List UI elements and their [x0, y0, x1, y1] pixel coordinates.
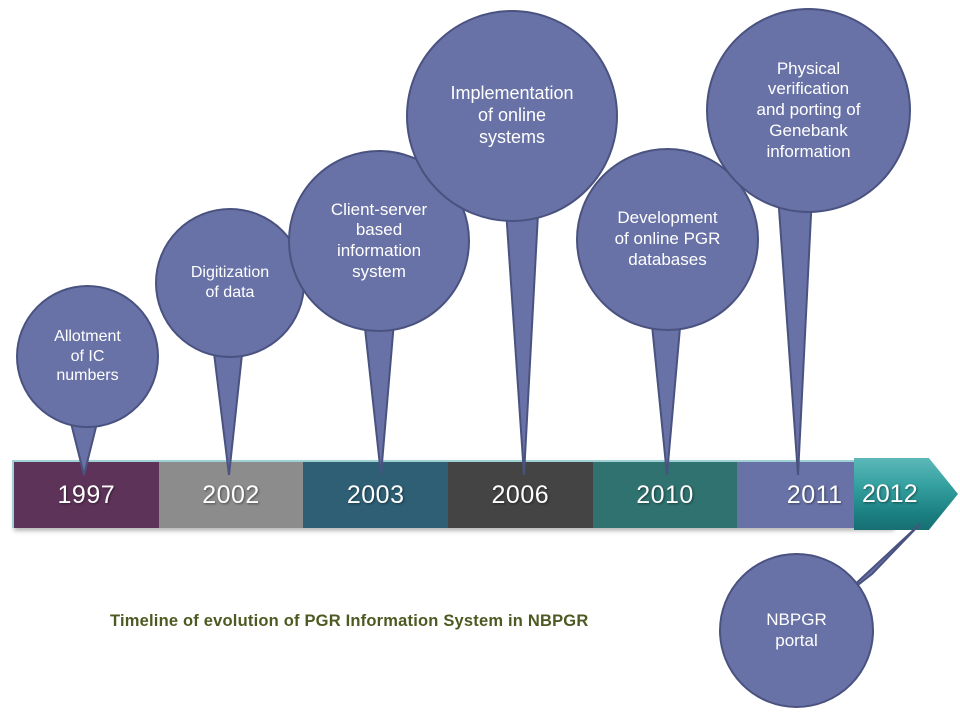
callout-allotment-of-ic-numbers[interactable]: Allotment of IC numbers	[16, 285, 159, 428]
callout-physical-verification-genebank-information-label: Physical verification and porting of Gen…	[747, 59, 871, 163]
callout-implementation-of-online-systems-label: Implementation of online systems	[440, 83, 583, 149]
callout-allotment-of-ic-numbers-label: Allotment of IC numbers	[44, 327, 131, 386]
callout-client-server-based-information-system-label: Client-server based information system	[321, 200, 437, 283]
callout-development-of-online-pgr-databases-label: Development of online PGR databases	[605, 208, 731, 270]
callout-digitization-of-data[interactable]: Digitization of data	[155, 208, 305, 358]
callout-implementation-of-online-systems[interactable]: Implementation of online systems	[406, 10, 618, 222]
timeline-diagram: Allotment of IC numbersDigitization of d…	[0, 0, 960, 720]
callout-physical-verification-genebank-information[interactable]: Physical verification and porting of Gen…	[706, 8, 911, 213]
callout-digitization-of-data-label: Digitization of data	[181, 263, 279, 302]
callout-nbpgr-portal-label: NBPGR portal	[756, 610, 836, 651]
callout-nbpgr-portal[interactable]: NBPGR portal	[719, 553, 874, 708]
